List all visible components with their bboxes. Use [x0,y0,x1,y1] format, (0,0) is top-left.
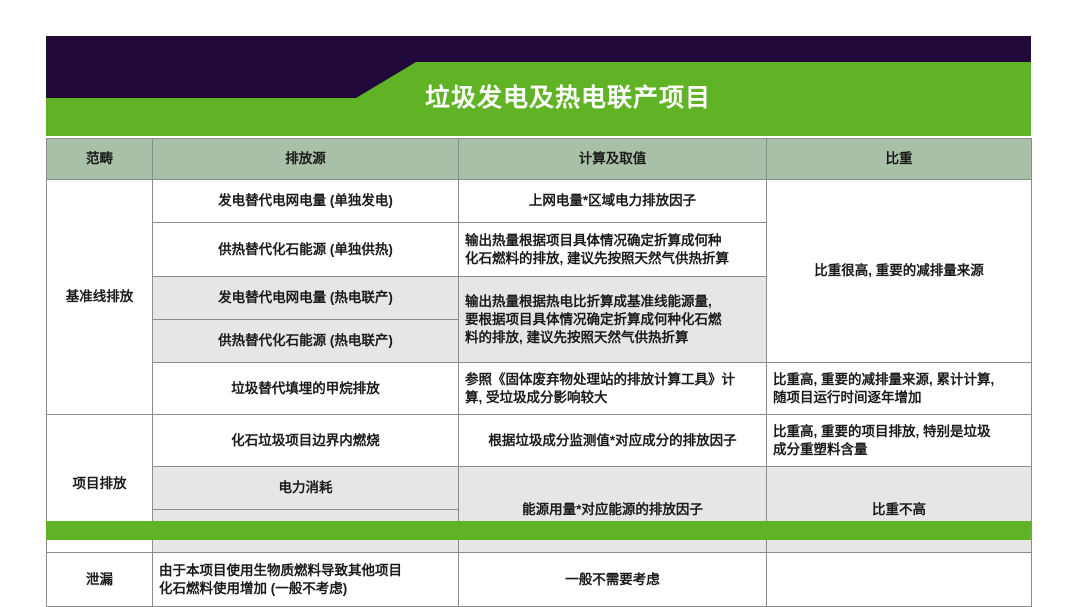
calc-line: 料的排放, 建议先按照天然气供热折算 [465,329,760,347]
source-cell-heat-standalone: 供热替代化石能源 (单独供热) [153,223,459,277]
share-cell-baseline-high: 比重很高, 重要的减排量来源 [767,180,1032,363]
calc-line: 输出热量根据项目具体情况确定折算成何种 [465,232,760,250]
source-cell-fossil-waste-combustion: 化石垃圾项目边界内燃烧 [153,415,459,467]
table-row: 项目排放 化石垃圾项目边界内燃烧 根据垃圾成分监测值*对应成分的排放因子 比重高… [47,415,1032,467]
calc-cell-heat-standalone: 输出热量根据项目具体情况确定折算成何种 化石燃料的排放, 建议先按照天然气供热折… [459,223,767,277]
slide-canvas: 垃圾发电及热电联产项目 范畴 排放源 计算及取值 比重 基准线排放 发电替代电网… [0,0,1080,577]
table-row: 垃圾替代填埋的甲烷排放 参照《固体废弃物处理站的排放计算工具》计 算, 受垃圾成… [47,363,1032,415]
calc-line: 算, 受垃圾成分影响较大 [465,389,760,407]
calc-line: 化石燃料的排放, 建议先按照天然气供热折算 [465,250,760,268]
column-header-emission-source: 排放源 [153,139,459,180]
table-row: 电力消耗 能源用量*对应能源的排放因子 比重不高 [47,467,1032,510]
table-row: 泄漏 由于本项目使用生物质燃料导致其他项目 化石燃料使用增加 (一般不考虑) 一… [47,553,1032,607]
source-cell-landfill-methane: 垃圾替代填埋的甲烷排放 [153,363,459,415]
share-cell-landfill-methane: 比重高, 重要的减排量来源, 累计计算, 随项目运行时间逐年增加 [767,363,1032,415]
share-cell-project-high: 比重高, 重要的项目排放, 特别是垃圾 成分重塑料含量 [767,415,1032,467]
calc-line: 参照《固体废弃物处理站的排放计算工具》计 [465,371,760,389]
share-line: 随项目运行时间逐年增加 [773,389,1025,407]
calc-cell-landfill-methane: 参照《固体废弃物处理站的排放计算工具》计 算, 受垃圾成分影响较大 [459,363,767,415]
category-cell-leakage: 泄漏 [47,553,153,607]
calc-line: 要根据项目具体情况确定折算成何种化石燃 [465,311,760,329]
share-line: 比重高, 重要的减排量来源, 累计计算, [773,371,1025,389]
source-cell-heat-chp: 供热替代化石能源 (热电联产) [153,320,459,363]
page-title: 垃圾发电及热电联产项目 [398,83,738,113]
calc-cell-chp: 输出热量根据热电比折算成基准线能源量, 要根据项目具体情况确定折算成何种化石燃 … [459,277,767,363]
source-cell-electricity-consumption: 电力消耗 [153,467,459,510]
table-row: 基准线排放 发电替代电网电量 (单独发电) 上网电量*区域电力排放因子 比重很高… [47,180,1032,223]
share-line: 比重高, 重要的项目排放, 特别是垃圾 [773,423,1025,441]
source-cell-leakage: 由于本项目使用生物质燃料导致其他项目 化石燃料使用增加 (一般不考虑) [153,553,459,607]
calc-line: 输出热量根据热电比折算成基准线能源量, [465,293,760,311]
calc-cell-fossil-waste-combustion: 根据垃圾成分监测值*对应成分的排放因子 [459,415,767,467]
table-header-row: 范畴 排放源 计算及取值 比重 [47,139,1032,180]
title-banner: 垃圾发电及热电联产项目 [46,36,1031,136]
calc-cell-grid-power-standalone: 上网电量*区域电力排放因子 [459,180,767,223]
bottom-accent-bar [46,521,1031,540]
share-line: 成分重塑料含量 [773,441,1025,459]
share-cell-leakage [767,553,1032,607]
category-cell-baseline: 基准线排放 [47,180,153,415]
source-cell-grid-power-chp: 发电替代电网电量 (热电联产) [153,277,459,320]
source-cell-grid-power-standalone: 发电替代电网电量 (单独发电) [153,180,459,223]
column-header-category: 范畴 [47,139,153,180]
source-line: 化石燃料使用增加 (一般不考虑) [159,580,452,598]
calc-cell-leakage: 一般不需要考虑 [459,553,767,607]
column-header-calculation: 计算及取值 [459,139,767,180]
column-header-share: 比重 [767,139,1032,180]
